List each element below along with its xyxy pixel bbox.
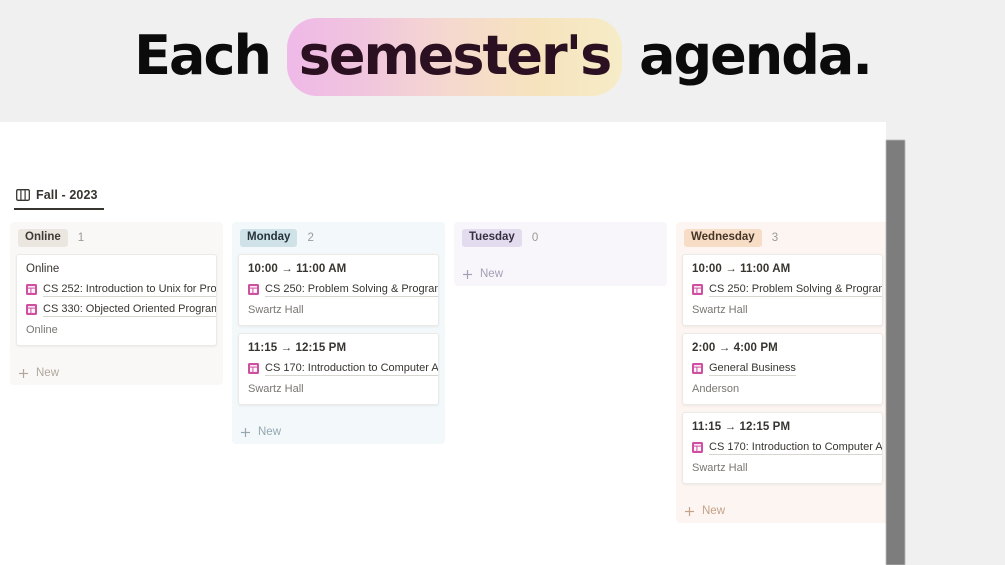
column-badge[interactable]: Online (18, 229, 68, 247)
column-body (454, 254, 667, 260)
tab-label: Fall - 2023 (36, 188, 98, 202)
card-relation[interactable]: CS 252: Introduction to Unix for Program… (26, 282, 207, 297)
card-relation[interactable]: CS 170: Introduction to Computer Archite… (248, 361, 429, 376)
column-header: Monday2 (232, 222, 445, 254)
column-header: Tuesday0 (454, 222, 667, 254)
card-relation-label: CS 170: Introduction to Computer Archite… (709, 440, 883, 455)
column-body: OnlineCS 252: Introduction to Unix for P… (10, 254, 223, 359)
board-column-wednesday: Wednesday310:00 → 11:00 AMCS 250: Proble… (676, 222, 886, 523)
card-location: Online (26, 324, 207, 336)
view-tabbar: Fall - 2023 (14, 186, 104, 212)
card-time: 11:15 → 12:15 PM (248, 342, 429, 354)
card-relation[interactable]: CS 250: Problem Solving & Programming 2 (248, 282, 429, 297)
tab-fall-2023[interactable]: Fall - 2023 (14, 188, 104, 210)
card-relation[interactable]: CS 330: Objected Oriented Programming an… (26, 302, 207, 317)
column-header: Online1 (10, 222, 223, 254)
headline-text-after: agenda. (622, 24, 871, 87)
plus-icon (18, 368, 29, 379)
card-relation[interactable]: CS 250: Problem Solving & Programming 2 (692, 282, 873, 297)
card-relation-label: CS 330: Objected Oriented Programming an… (43, 302, 217, 317)
column-count: 3 (772, 232, 778, 244)
hero-band: Each semester's agenda. (0, 0, 1005, 122)
database-icon (248, 284, 259, 295)
column-count: 2 (307, 232, 313, 244)
database-icon (248, 363, 259, 374)
headline-highlight: semester's (287, 18, 623, 96)
database-icon (26, 304, 37, 315)
card-location: Swartz Hall (692, 304, 873, 316)
card-time: 2:00 → 4:00 PM (692, 342, 873, 354)
plus-icon (462, 269, 473, 280)
card-relation[interactable]: General Business (692, 361, 873, 376)
board-column-online: Online1OnlineCS 252: Introduction to Uni… (10, 222, 223, 385)
card-title: Online (26, 263, 207, 275)
card-relation-label: CS 250: Problem Solving & Programming 2 (265, 282, 439, 297)
add-new-card-label: New (480, 268, 503, 280)
database-icon (692, 363, 703, 374)
event-card[interactable]: 10:00 → 11:00 AMCS 250: Problem Solving … (238, 254, 439, 326)
card-location: Swartz Hall (692, 462, 873, 474)
page-headline: Each semester's agenda. (0, 18, 1005, 96)
database-icon (692, 442, 703, 453)
headline-text-before: Each (134, 24, 287, 87)
add-new-card-label: New (258, 426, 281, 438)
card-time: 10:00 → 11:00 AM (248, 263, 429, 275)
event-card[interactable]: OnlineCS 252: Introduction to Unix for P… (16, 254, 217, 346)
card-relation-label: CS 252: Introduction to Unix for Program… (43, 282, 217, 297)
column-header: Wednesday3 (676, 222, 886, 254)
column-badge[interactable]: Monday (240, 229, 297, 247)
plus-icon (684, 506, 695, 517)
add-new-card-label: New (36, 367, 59, 379)
panel-edge-shadow (886, 140, 905, 565)
card-time: 10:00 → 11:00 AM (692, 263, 873, 275)
plus-icon (240, 427, 251, 438)
board-column-tuesday: Tuesday0New (454, 222, 667, 286)
event-card[interactable]: 11:15 → 12:15 PMCS 170: Introduction to … (682, 412, 883, 484)
column-badge[interactable]: Wednesday (684, 229, 762, 247)
card-location: Anderson (692, 383, 873, 395)
kanban-board: Online1OnlineCS 252: Introduction to Uni… (10, 222, 886, 523)
card-relation-label: CS 250: Problem Solving & Programming 2 (709, 282, 883, 297)
database-icon (26, 284, 37, 295)
board-icon (16, 189, 30, 201)
add-new-card-label: New (702, 505, 725, 517)
board-column-monday: Monday210:00 → 11:00 AMCS 250: Problem S… (232, 222, 445, 444)
add-new-card-button[interactable]: New (454, 262, 667, 286)
app-panel: Fall - 2023 Online1OnlineCS 252: Introdu… (0, 122, 886, 565)
column-badge[interactable]: Tuesday (462, 229, 522, 247)
column-count: 1 (78, 232, 84, 244)
add-new-card-button[interactable]: New (676, 499, 886, 523)
card-time: 11:15 → 12:15 PM (692, 421, 873, 433)
column-body: 10:00 → 11:00 AMCS 250: Problem Solving … (676, 254, 886, 497)
column-body: 10:00 → 11:00 AMCS 250: Problem Solving … (232, 254, 445, 418)
card-location: Swartz Hall (248, 383, 429, 395)
card-relation-label: CS 170: Introduction to Computer Archite… (265, 361, 439, 376)
card-location: Swartz Hall (248, 304, 429, 316)
add-new-card-button[interactable]: New (10, 361, 223, 385)
column-count: 0 (532, 232, 538, 244)
event-card[interactable]: 11:15 → 12:15 PMCS 170: Introduction to … (238, 333, 439, 405)
add-new-card-button[interactable]: New (232, 420, 445, 444)
card-relation-label: General Business (709, 361, 796, 376)
card-relation[interactable]: CS 170: Introduction to Computer Archite… (692, 440, 873, 455)
event-card[interactable]: 10:00 → 11:00 AMCS 250: Problem Solving … (682, 254, 883, 326)
event-card[interactable]: 2:00 → 4:00 PMGeneral BusinessAnderson (682, 333, 883, 405)
database-icon (692, 284, 703, 295)
